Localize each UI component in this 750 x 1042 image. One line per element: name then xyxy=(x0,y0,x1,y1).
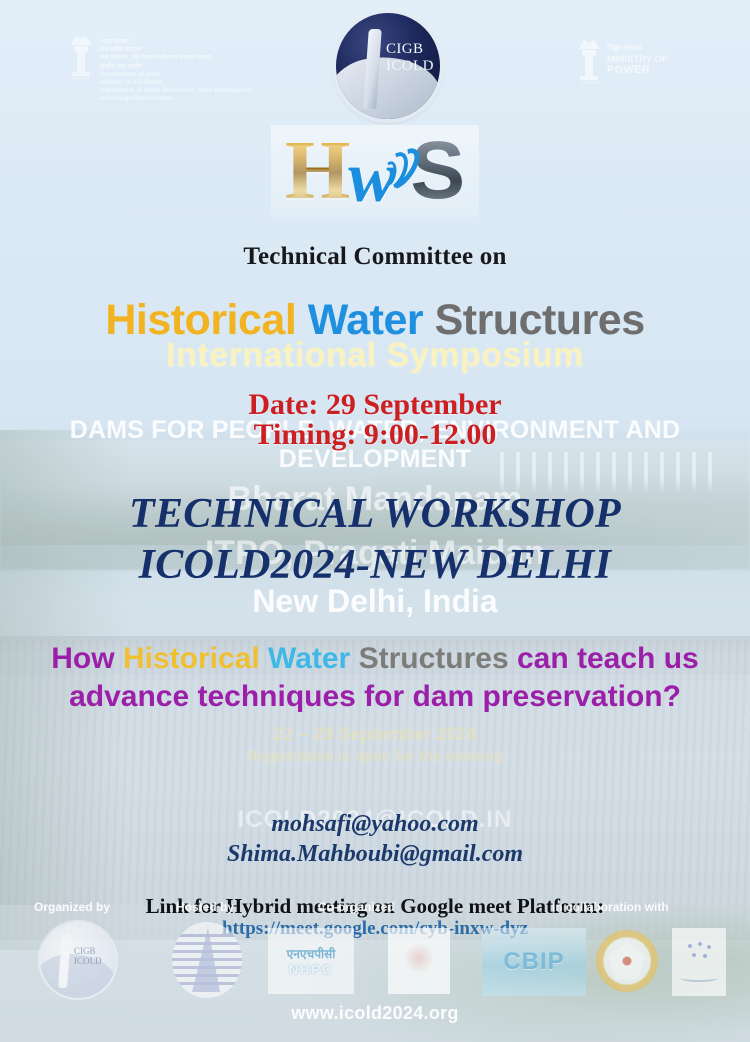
event-timing: Timing: 9:00-12.00 xyxy=(0,418,750,452)
emblem-line-6: Ministry of Jal Shakti xyxy=(100,79,253,87)
workshop-title-line-2: ICOLD2024-NEW DELHI xyxy=(0,541,750,589)
government-of-india-emblem: सत्यमेव जयते भारत सरकार जल शक्ति मंत्राल… xyxy=(70,36,280,110)
footer-label-in-collaboration-with: In collaboration with xyxy=(552,900,669,914)
question-word-historical: Historical xyxy=(123,642,260,675)
emblem-line-3: जल संसाधन, नदी विकास और गंगा संरक्षण विभ… xyxy=(100,54,253,62)
footer-partner-white-logo xyxy=(388,928,450,994)
hws-letter-h: H xyxy=(285,128,350,214)
footer-icold-line-1: CIGB xyxy=(74,946,102,956)
contact-email-2[interactable]: Shima.Mahboubi@gmail.com xyxy=(0,841,750,868)
nhpc-english-text: NHPC xyxy=(289,962,334,977)
title-word-structures: Structures xyxy=(435,296,645,344)
question-space-1 xyxy=(260,642,268,675)
title-word-historical: Historical xyxy=(105,296,296,344)
ministry-of-power-emblem: सत्यमेव जयते विद्युत मंत्रालय MINISTRY O… xyxy=(578,40,738,106)
contact-email-1[interactable]: mohsafi@yahoo.com xyxy=(0,811,750,838)
website-url[interactable]: www.icold2024.org xyxy=(0,1003,750,1024)
water-wave-icon xyxy=(382,143,416,205)
footer-cbip-logo: CBIP xyxy=(482,928,586,996)
question-word-structures: Structures xyxy=(359,642,509,675)
hws-logo: H w S xyxy=(0,118,750,224)
cbip-text: CBIP xyxy=(503,948,564,976)
ministry-of-power-text: विद्युत मंत्रालय MINISTRY OF POWER xyxy=(607,40,668,76)
ashoka-emblem-icon: सत्यमेव जयते xyxy=(70,36,92,80)
footer-inco-dam-logo xyxy=(172,922,242,998)
emblem-motto: सत्यमेव जयते xyxy=(69,77,93,81)
hws-letter-s: S xyxy=(410,129,465,213)
question-word-water: Water xyxy=(268,642,350,675)
footer-label-hosted-by: Hosted by xyxy=(176,900,234,914)
emblem-line-4: केन्द्रीय जल आयोग xyxy=(100,63,253,71)
cigb-icold-logo: CIGB ICOLD xyxy=(336,13,440,119)
emblem-line-7: Department of Water Resources, River Dev… xyxy=(100,87,253,95)
footer-logo-row: CIGB ICOLD एनएचपीसी NHPC CBIP xyxy=(0,922,750,1000)
page-title: Historical Water Structures xyxy=(0,296,750,345)
committee-prefix: Technical Committee on xyxy=(0,243,750,271)
footer-cigb-icold-logo: CIGB ICOLD xyxy=(40,922,116,998)
ashoka-emblem-icon-right: सत्यमेव जयते xyxy=(578,40,600,84)
footer-icold-line-2: ICOLD xyxy=(74,956,102,966)
icold-logo-line-icold: ICOLD xyxy=(386,58,438,75)
icold-logo-text: CIGB ICOLD xyxy=(386,41,438,75)
nhpc-hindi-text: एनएचपीसी xyxy=(287,945,336,962)
footer-labels: Organized by Hosted by Co-organized In c… xyxy=(0,900,750,920)
mop-hindi-line: विद्युत मंत्रालय xyxy=(607,43,668,54)
mop-line-3: POWER xyxy=(607,65,668,76)
title-word-water: Water xyxy=(308,296,423,344)
emblem-text-lines: भारत सरकार जल शक्ति मंत्रालय जल संसाधन, … xyxy=(100,36,253,104)
emblem-line-5: Government of India xyxy=(100,71,253,79)
footer-label-organized-by: Organized by xyxy=(34,900,110,914)
footer-nhpc-logo: एनएचपीसी NHPC xyxy=(268,928,354,994)
emblem-line-1: भारत सरकार xyxy=(100,38,253,46)
footer-certificate-logo xyxy=(672,928,726,996)
conference-poster: International Symposium DAMS FOR PEOPLE,… xyxy=(0,0,750,1042)
question-space-2 xyxy=(350,642,358,675)
workshop-question: How Historical Water Structures can teac… xyxy=(0,640,750,716)
event-date: Date: 29 September xyxy=(0,388,750,422)
workshop-title-line-1: TECHNICAL WORKSHOP xyxy=(0,490,750,538)
emblem-motto-right: सत्यमेव जयते xyxy=(577,81,601,85)
footer-gold-seal-logo xyxy=(596,930,658,992)
question-part-1: How xyxy=(51,642,123,675)
emblem-line-8: and Ganga Rejuvenation xyxy=(100,95,253,103)
footer-label-co-organized: Co-organized xyxy=(318,900,395,914)
hws-logo-box: H w S xyxy=(271,125,479,217)
icold-logo-line-cigb: CIGB xyxy=(386,41,438,58)
